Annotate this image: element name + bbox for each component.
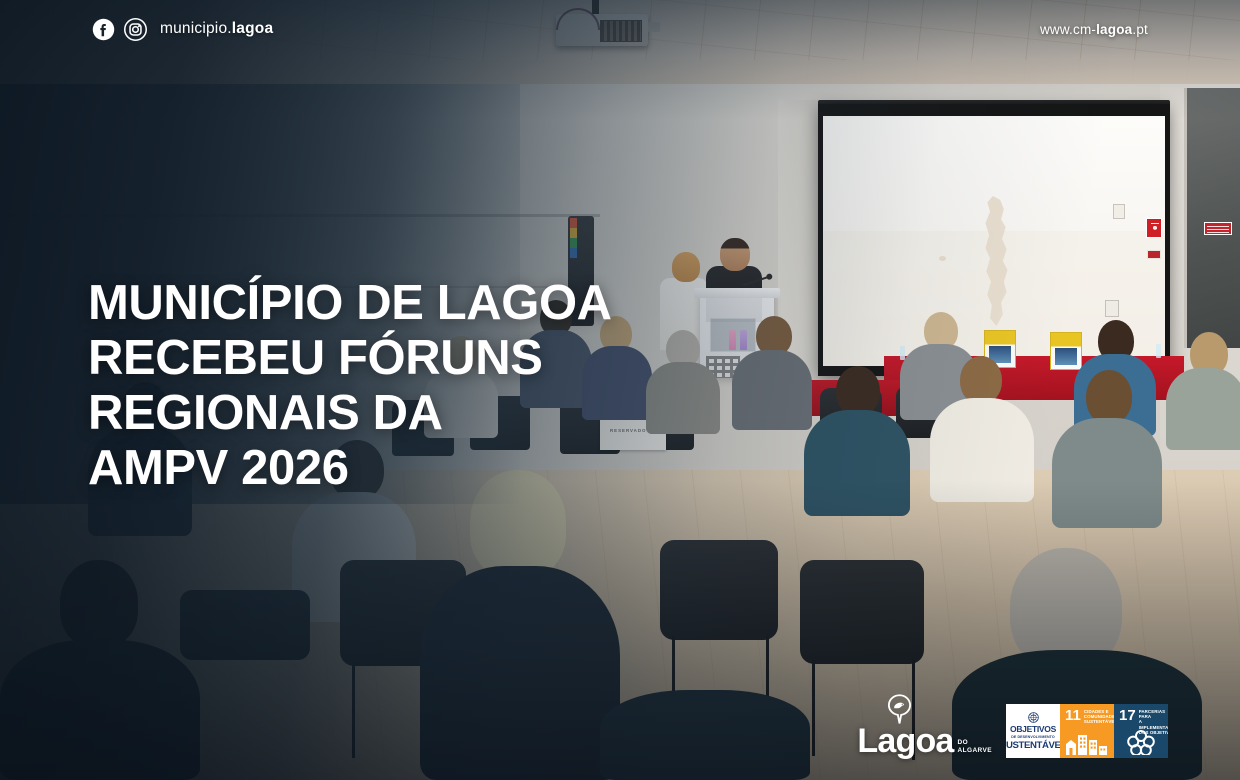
social-handles[interactable]: municipio.lagoa — [92, 18, 273, 41]
headline-line-3: REGIONAIS DA — [88, 386, 648, 441]
sdg-11-title-line-3: SUSTENTÁVEIS — [1084, 719, 1114, 724]
city-buildings-icon — [1065, 731, 1109, 755]
facebook-icon[interactable] — [92, 18, 115, 41]
lagoa-bird-pin-icon — [886, 694, 913, 725]
sdg-11-title: CIDADES E COMUNIDADES SUSTENTÁVEIS — [1084, 709, 1114, 725]
handle-prefix: municipio. — [160, 20, 232, 37]
top-bar: municipio.lagoa www.cm-lagoa.pt — [0, 0, 1240, 58]
ods-bigline: SUSTENTÁVEL — [1006, 741, 1060, 751]
sdg-17-title-line-1: PARCERIAS PARA — [1139, 709, 1168, 719]
lagoa-wordmark: Lagoa — [857, 724, 953, 758]
sdg-logo-badge[interactable]: OBJETIVOS DE DESENVOLVIMENTO SUSTENTÁVEL — [1006, 704, 1060, 758]
url-suffix: .pt — [1132, 22, 1148, 37]
website-url[interactable]: www.cm-lagoa.pt — [1040, 22, 1148, 37]
lagoa-subtitle: DO ALGARVE — [958, 739, 992, 754]
url-prefix: www.cm- — [1040, 22, 1096, 37]
banner-canvas: RESERVADO — [0, 0, 1240, 780]
headline-line-4: AMPV 2026 — [88, 441, 648, 496]
instagram-icon[interactable] — [124, 18, 147, 41]
sdg-11-badge[interactable]: 11 CIDADES E COMUNIDADES SUSTENTÁVEIS — [1060, 704, 1114, 758]
lagoa-municipality-logo[interactable]: Lagoa DO ALGARVE — [857, 724, 992, 758]
headline-line-2: RECEBEU FÓRUNS — [88, 331, 648, 386]
lagoa-subtitle-line-1: DO — [958, 739, 992, 747]
logo-bar: Lagoa DO ALGARVE OBJETIVOS DE DESENVOLVI… — [857, 704, 1168, 758]
lagoa-subtitle-line-2: ALGARVE — [958, 747, 992, 755]
headline-line-1: MUNICÍPIO DE LAGOA — [88, 276, 648, 331]
sdg-11-number: 11 — [1065, 709, 1081, 723]
headline: MUNICÍPIO DE LAGOA RECEBEU FÓRUNS REGION… — [88, 276, 648, 496]
un-emblem-icon — [1027, 711, 1040, 724]
url-bold: lagoa — [1096, 22, 1132, 37]
handle-bold: lagoa — [232, 20, 273, 37]
ods-title: OBJETIVOS — [1010, 725, 1056, 734]
sdg-17-badge[interactable]: 17 PARCERIAS PARA A IMPLEMENTAÇÃO DOS OB… — [1114, 704, 1168, 758]
interlocking-circles-icon — [1127, 729, 1155, 755]
sdg-17-number: 17 — [1119, 709, 1136, 723]
sdg-11-header: 11 CIDADES E COMUNIDADES SUSTENTÁVEIS — [1060, 704, 1114, 725]
sdg-badges: OBJETIVOS DE DESENVOLVIMENTO SUSTENTÁVEL… — [1006, 704, 1168, 758]
instagram-handle[interactable]: municipio.lagoa — [160, 20, 273, 38]
